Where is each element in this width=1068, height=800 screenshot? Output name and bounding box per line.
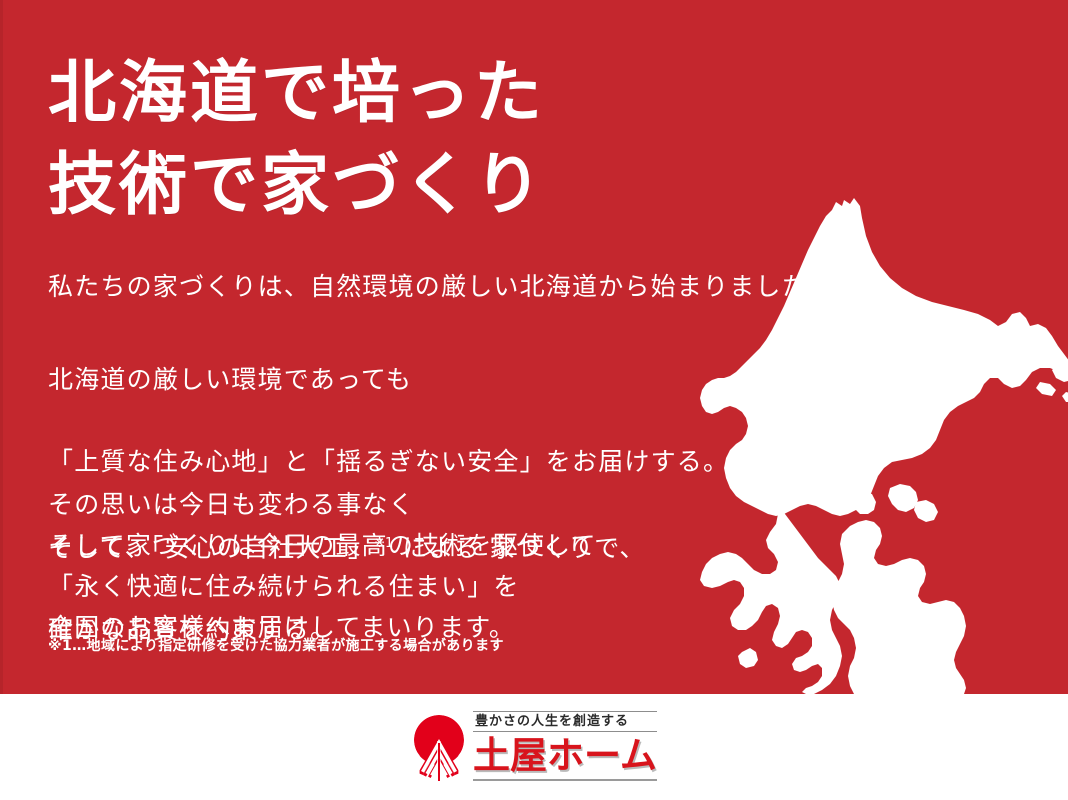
hero-panel: 北海道で培った 技術で家づくり 私たちの家づくりは、自然環境の厳しい北海道から始… xyxy=(0,0,1068,694)
body-paragraph-3: その思いは今日も変わる事なく そして家づくりは今日の最高の技術を駆使して 「永く… xyxy=(48,484,597,648)
logo-company-name: 土屋ホーム xyxy=(473,735,657,777)
company-logo: 豊かさの人生を創造する 土屋ホーム xyxy=(411,711,657,783)
footer-bar: 豊かさの人生を創造する 土屋ホーム xyxy=(0,694,1068,800)
poster-root: 北海道で培った 技術で家づくり 私たちの家づくりは、自然環境の厳しい北海道から始… xyxy=(0,0,1068,800)
logo-tagline: 豊かさの人生を創造する xyxy=(473,711,657,732)
para2-line2: 「上質な住み心地」と「揺るぎない安全」をお届けする。 xyxy=(48,447,729,476)
footnote-text: ※1…地域により指定研修を受けた協力業者が施工する場合があります xyxy=(48,636,504,656)
tsuchiya-circle-mark-icon xyxy=(411,713,467,783)
para2-line1: 北海道の厳しい環境であっても xyxy=(48,365,412,394)
logo-text-block: 豊かさの人生を創造する 土屋ホーム xyxy=(473,711,657,783)
logo-underline xyxy=(473,779,657,781)
page-title: 北海道で培った 技術で家づくり xyxy=(48,48,545,232)
hero-left-edge xyxy=(0,0,3,694)
lead-paragraph: 私たちの家づくりは、自然環境の厳しい北海道から始まりました。 xyxy=(48,268,834,306)
